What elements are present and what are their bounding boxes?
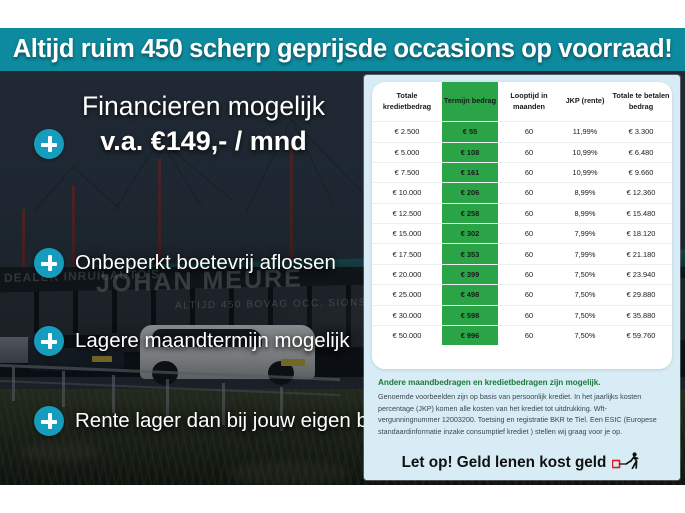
table-cell: € 108 [442, 142, 498, 162]
plus-icon [34, 326, 64, 356]
benefit-label: Lagere maandtermijn mogelijk [75, 329, 350, 353]
table-row: € 15.000€ 302607,99%€ 18.120 [372, 224, 672, 244]
table-row: € 5.000€ 1086010,99%€ 6.480 [372, 142, 672, 162]
table-cell: € 18.120 [610, 224, 672, 244]
table-cell: € 353 [442, 244, 498, 264]
table-cell: € 50.000 [372, 325, 442, 345]
table-cell: € 206 [442, 183, 498, 203]
table-cell: € 9.660 [610, 162, 672, 182]
benefit-item-rente: Rente lager dan bij jouw eigen bank [34, 406, 401, 436]
col-header-totale-te-betalen: Totale te betalen bedrag [610, 82, 672, 122]
benefit-label: Onbeperkt boetevrij aflossen [75, 251, 336, 275]
table-cell: € 302 [442, 224, 498, 244]
table-cell: 11,99% [560, 122, 610, 142]
credit-warning-bar: Let op! Geld lenen kost geld [364, 446, 680, 480]
table-cell: € 3.300 [610, 122, 672, 142]
promo-banner: Altijd ruim 450 scherp geprijsde occasio… [0, 28, 685, 485]
hero-line-2: v.a. €149,- / mnd [36, 126, 371, 157]
running-man-with-block-icon [612, 452, 642, 474]
table-cell: 60 [498, 285, 560, 305]
table-cell: € 5.000 [372, 142, 442, 162]
table-cell: 60 [498, 224, 560, 244]
table-cell: 60 [498, 325, 560, 345]
table-cell: € 161 [442, 162, 498, 182]
table-row: € 25.000€ 498607,50%€ 29.880 [372, 285, 672, 305]
table-row: € 20.000€ 399607,50%€ 23.940 [372, 264, 672, 284]
table-cell: 60 [498, 162, 560, 182]
credit-warning-label: Let op! Geld lenen kost geld [402, 454, 607, 471]
table-row: € 2.500€ 556011,99%€ 3.300 [372, 122, 672, 142]
col-header-text: Totale kredietbedrag [383, 91, 431, 111]
benefit-item-maandtermijn: Lagere maandtermijn mogelijk [34, 326, 350, 356]
table-cell: 7,50% [560, 325, 610, 345]
table-cell: 60 [498, 122, 560, 142]
table-cell: 60 [498, 142, 560, 162]
plus-icon [34, 406, 64, 436]
table-cell: € 498 [442, 285, 498, 305]
col-header-text: Totale te betalen bedrag [612, 91, 669, 111]
table-cell: € 12.360 [610, 183, 672, 203]
table-cell: 60 [498, 183, 560, 203]
table-cell: € 12.500 [372, 203, 442, 223]
col-header-text: Looptijd in maanden [510, 91, 547, 111]
table-header-row: Totale kredietbedrag Termijn bedrag Loop… [372, 82, 672, 122]
table-cell: 8,99% [560, 203, 610, 223]
table-cell: € 55 [442, 122, 498, 142]
table-row: € 30.000€ 598607,50%€ 35.880 [372, 305, 672, 325]
table-cell: € 17.500 [372, 244, 442, 264]
table-cell: € 7.500 [372, 162, 442, 182]
table-cell: 7,50% [560, 285, 610, 305]
benefit-item-aflossen: Onbeperkt boetevrij aflossen [34, 248, 336, 278]
col-header-text: JKP (rente) [566, 96, 605, 105]
table-row: € 17.500€ 353607,99%€ 21.180 [372, 244, 672, 264]
financing-info-panel: Totale kredietbedrag Termijn bedrag Loop… [364, 75, 680, 480]
table-cell: 60 [498, 264, 560, 284]
headline-text: Altijd ruim 450 scherp geprijsde occasio… [13, 35, 673, 64]
table-cell: € 35.880 [610, 305, 672, 325]
hero-headline: Financieren mogelijk v.a. €149,- / mnd [36, 91, 371, 157]
table-cell: 7,50% [560, 305, 610, 325]
table-cell: € 15.000 [372, 224, 442, 244]
table-cell: € 20.000 [372, 264, 442, 284]
hero-line-1: Financieren mogelijk [36, 91, 371, 122]
table-row: € 50.000€ 996607,50%€ 59.760 [372, 325, 672, 345]
table-cell: € 59.760 [610, 325, 672, 345]
headline-bar: Altijd ruim 450 scherp geprijsde occasio… [0, 28, 685, 71]
col-header-text: Termijn bedrag [444, 96, 496, 105]
table-cell: € 598 [442, 305, 498, 325]
note-body: Genoemde voorbeelden zijn op basis van p… [378, 391, 666, 438]
table-cell: € 258 [442, 203, 498, 223]
table-cell: 60 [498, 203, 560, 223]
table-cell: 7,99% [560, 244, 610, 264]
note-title: Andere maandbedragen en kredietbedragen … [378, 378, 668, 387]
table-cell: 10,99% [560, 142, 610, 162]
table-cell: 60 [498, 305, 560, 325]
credit-warning-text: Let op! Geld lenen kost geld [402, 452, 643, 474]
table-cell: € 6.480 [610, 142, 672, 162]
rates-table-body: € 2.500€ 556011,99%€ 3.300€ 5.000€ 10860… [372, 122, 672, 346]
table-cell: € 15.480 [610, 203, 672, 223]
table-row: € 7.500€ 1616010,99%€ 9.660 [372, 162, 672, 182]
col-header-termijn-bedrag: Termijn bedrag [442, 82, 498, 122]
col-header-jkp: JKP (rente) [560, 82, 610, 122]
benefit-label: Rente lager dan bij jouw eigen bank [75, 409, 401, 433]
table-row: € 12.500€ 258608,99%€ 15.480 [372, 203, 672, 223]
table-row: € 10.000€ 206608,99%€ 12.360 [372, 183, 672, 203]
rates-table-card: Totale kredietbedrag Termijn bedrag Loop… [372, 82, 672, 369]
table-cell: 7,99% [560, 224, 610, 244]
benefits-list: Financieren mogelijk v.a. €149,- / mnd O… [0, 71, 375, 485]
table-cell: 8,99% [560, 183, 610, 203]
table-cell: 7,50% [560, 264, 610, 284]
table-cell: € 996 [442, 325, 498, 345]
table-cell: € 10.000 [372, 183, 442, 203]
table-cell: € 21.180 [610, 244, 672, 264]
plus-icon [34, 248, 64, 278]
table-cell: € 23.940 [610, 264, 672, 284]
col-header-totale-kredietbedrag: Totale kredietbedrag [372, 82, 442, 122]
table-cell: € 25.000 [372, 285, 442, 305]
table-cell: 10,99% [560, 162, 610, 182]
table-cell: € 399 [442, 264, 498, 284]
table-cell: 60 [498, 244, 560, 264]
rates-table: Totale kredietbedrag Termijn bedrag Loop… [372, 82, 672, 345]
col-header-looptijd: Looptijd in maanden [498, 82, 560, 122]
table-cell: € 2.500 [372, 122, 442, 142]
table-cell: € 29.880 [610, 285, 672, 305]
table-cell: € 30.000 [372, 305, 442, 325]
